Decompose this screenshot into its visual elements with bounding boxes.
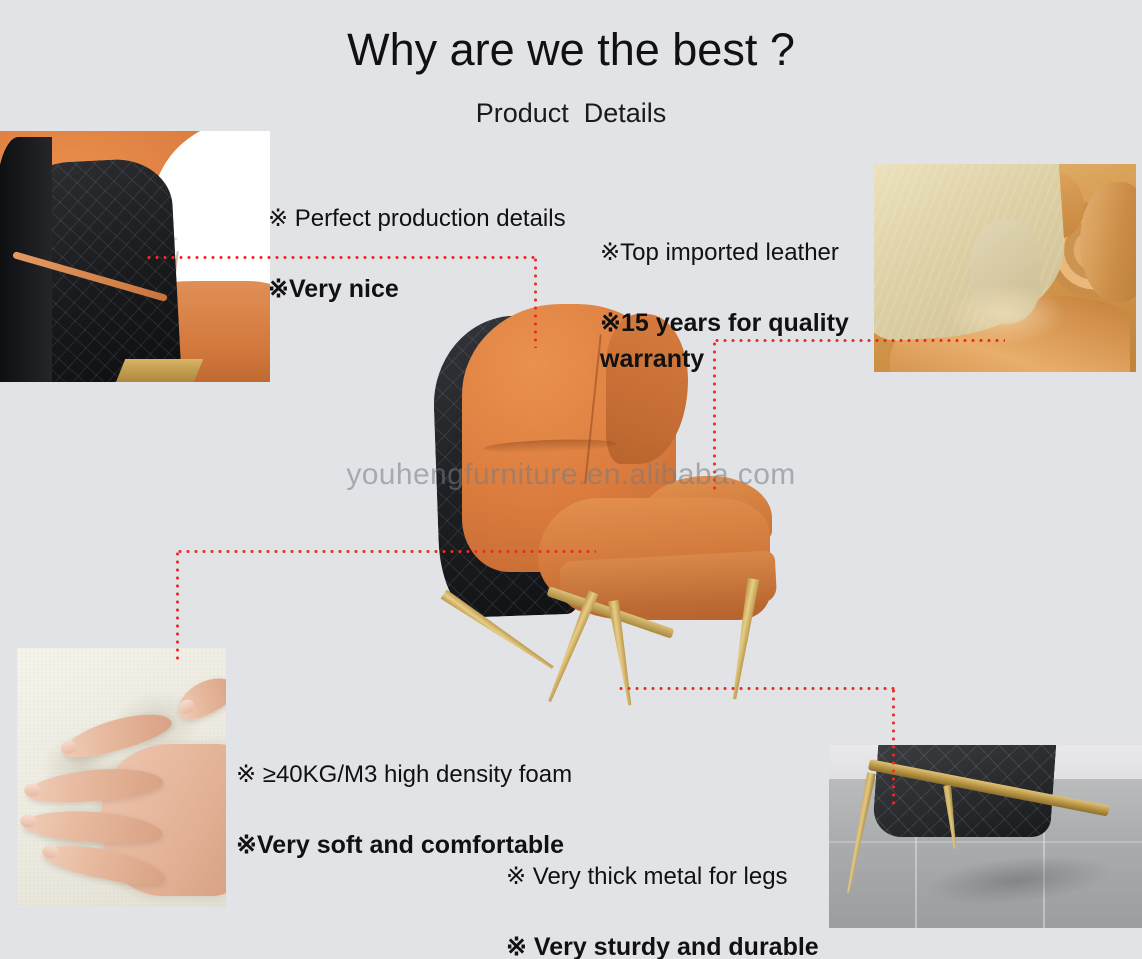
connector-legs-vertical: [892, 687, 895, 805]
page-title: Why are we the best ?: [0, 24, 1142, 76]
callout-perfect-production-details: ※ Perfect production details ※Very nice: [268, 166, 598, 344]
fingernail-ring: [20, 814, 37, 828]
connector-foam-horizontal: [176, 550, 596, 553]
photo-hand-on-foam: [17, 648, 226, 907]
callout-foam-line1: ※ ≥40KG/M3 high density foam: [236, 758, 606, 792]
callout-top-imported-leather: ※Top imported leather ※15 years for qual…: [600, 200, 888, 413]
page-subtitle: Product Details: [0, 98, 1142, 129]
callout-legs-line2: ※ Very sturdy and durable: [506, 930, 856, 959]
connector-legs-horizontal: [617, 687, 895, 690]
thumbnail: [177, 697, 197, 716]
callout-leather-line1: ※Top imported leather: [600, 236, 888, 270]
callout-production-line2: ※Very nice: [268, 272, 598, 308]
fingernail-little: [41, 844, 59, 860]
callout-leather-line2: ※15 years for quality warranty: [600, 306, 888, 377]
callout-production-line1: ※ Perfect production details: [268, 202, 598, 236]
product-details-poster: Why are we the best ? Product Details: [0, 0, 1142, 959]
callout-legs-line1: ※ Very thick metal for legs: [506, 860, 856, 894]
closeup-gold-trim: [115, 359, 204, 382]
photo-gold-metal-legs: [829, 745, 1142, 928]
fingernail-middle: [24, 783, 41, 797]
leather-highlight: [946, 284, 1066, 344]
connector-foam-vertical: [176, 550, 179, 660]
callout-thick-metal-legs: ※ Very thick metal for legs ※ Very sturd…: [506, 824, 856, 959]
floor-tile-seam-3: [829, 841, 1142, 843]
